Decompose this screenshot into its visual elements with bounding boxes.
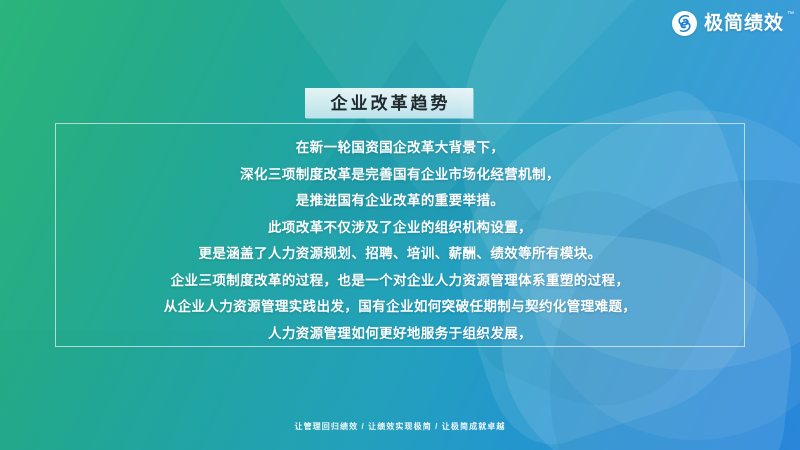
body-paragraph: 在新一轮国资国企改革大背景下， 深化三项制度改革是完善国有企业市场化经营机制， … [55,126,745,348]
brand-logo: 极简绩效 ™ [672,11,784,36]
trademark-symbol: ™ [787,11,794,18]
body-line: 企业三项制度改革的过程，也是一个对企业人力资源管理体系重塑的过程， [171,268,630,295]
body-line: 从企业人力资源管理实践出发，国有企业如何突破任期制与契约化管理难题， [164,294,637,321]
footer-slogan: 让管理回归绩效 / 让绩效实现极简 / 让极简成就卓越 [294,422,505,431]
slide-title: 企业改革趋势 [328,95,451,112]
body-line: 更是涵盖了人力资源规划、招聘、培训、薪酬、绩效等所有模块。 [198,241,601,268]
body-line: 深化三项制度改革是完善国有企业市场化经营机制， [240,162,560,189]
body-line: 人力资源管理如何更好地服务于组织发展， [268,321,532,348]
brand-wordmark: 极简绩效 ™ [704,14,784,33]
slide-title-band: 企业改革趋势 [305,88,473,118]
slide-footer: 让管理回归绩效 / 让绩效实现极简 / 让极简成就卓越 [0,416,800,434]
body-line: 此项改革不仅涉及了企业的组织机构设置， [268,215,532,242]
swirl-s-logo-icon [672,11,697,36]
body-line: 在新一轮国资国企改革大背景下， [296,135,505,162]
presentation-slide: 极简绩效 ™ 企业改革趋势 在新一轮国资国企改革大背景下， 深化三项制度改革是完… [0,0,800,450]
brand-wordmark-text: 极简绩效 [704,13,784,34]
body-line: 是推进国有企业改革的重要举措。 [296,188,505,215]
